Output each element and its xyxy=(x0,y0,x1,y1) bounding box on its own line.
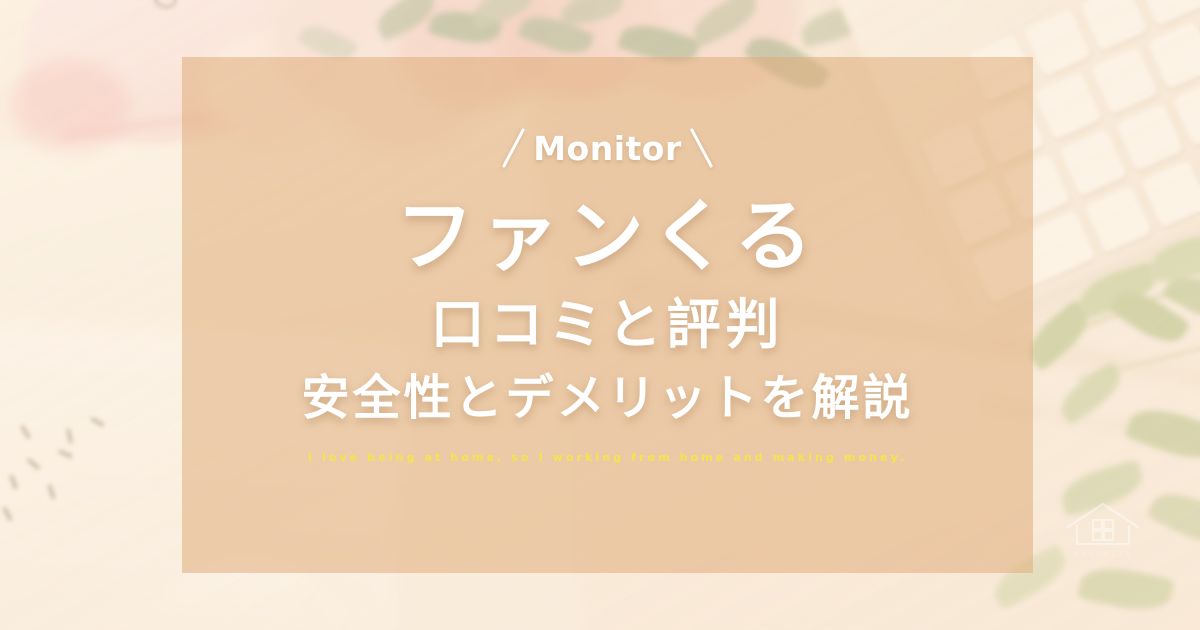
page-title: ファンくる xyxy=(396,195,819,279)
tagline-text: I love being at home, so I working from … xyxy=(308,452,907,463)
subtitle-line-1: 口コミと評判 xyxy=(431,295,785,354)
eyecatch-banner: BEAUTY GURU xyxy=(0,0,1200,630)
forwardslash-decoration-icon xyxy=(690,128,713,168)
kicker-label: Monitor xyxy=(531,132,684,165)
backslash-decoration-icon xyxy=(502,128,525,168)
kicker-group: Monitor xyxy=(512,125,703,171)
subtitle-line-2: 安全性とデメリットを解説 xyxy=(301,372,913,425)
banner-content: Monitor ファンくる 口コミと評判 安全性とデメリットを解説 I love… xyxy=(182,57,1033,573)
